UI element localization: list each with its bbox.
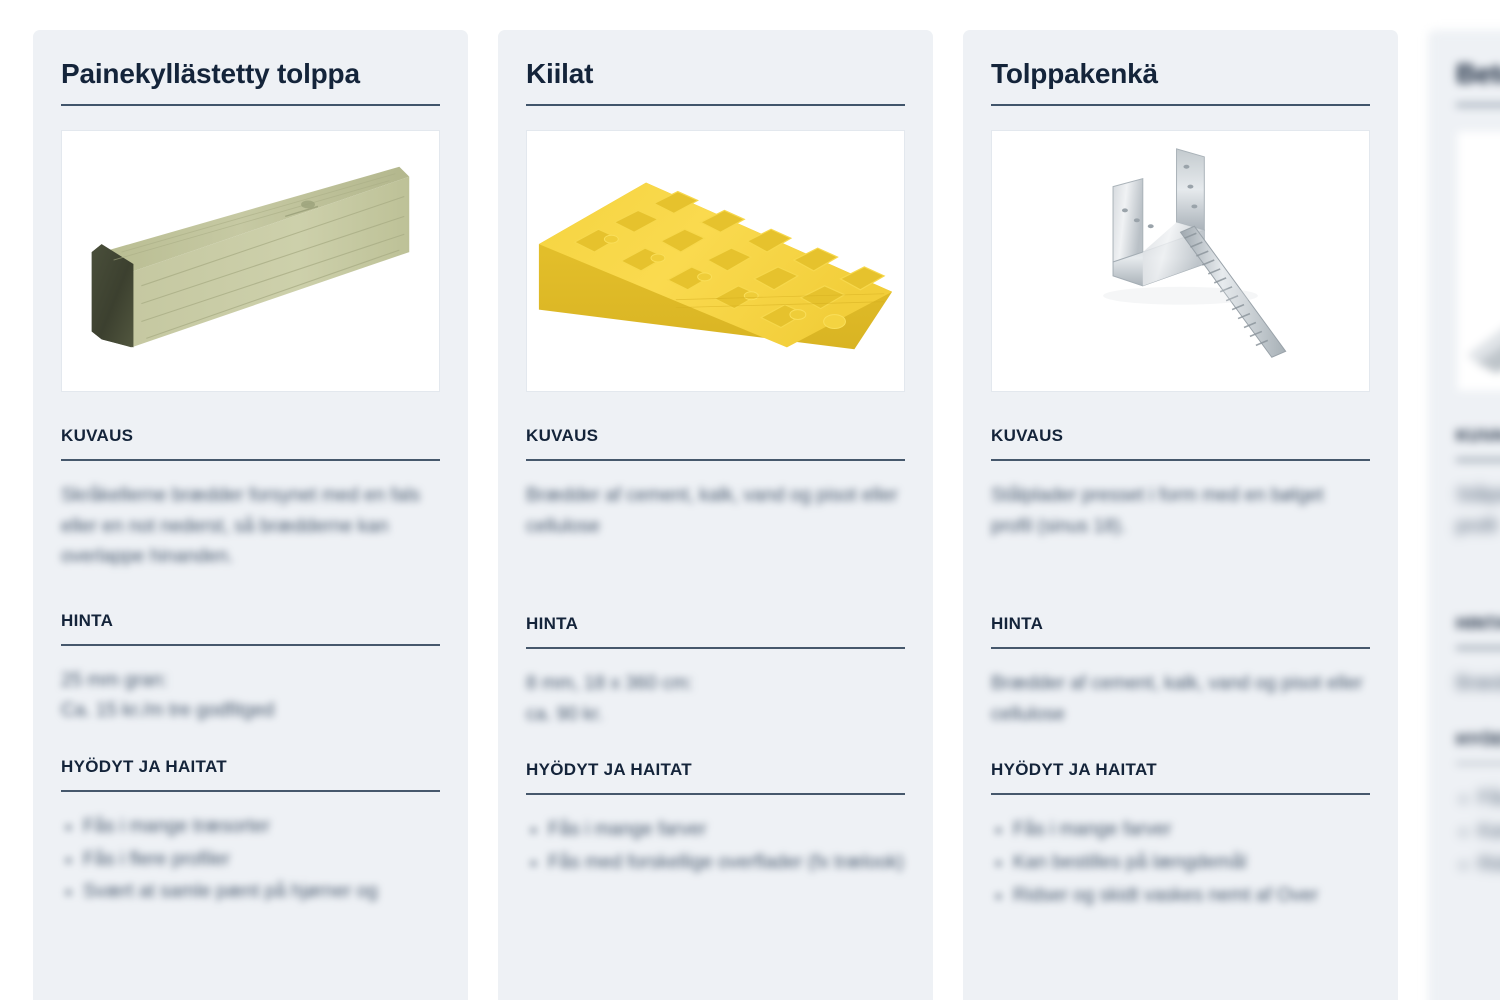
pros-cons-list-blurred: Fås i mange Kan bestilles Ridser og skid… (1456, 784, 1500, 880)
pros-cons-list: Fås i mange farver Fås med forskellige o… (526, 815, 905, 879)
description-text-blurred: Stålplader presset i form med en bølget … (991, 481, 1370, 543)
price-text: 8 mm, 18 x 360 cm: ca. 90 kr. (526, 669, 905, 731)
yellow-plastic-shim-wedge-photo (527, 134, 904, 389)
pros-cons-divider (1456, 763, 1500, 765)
description-text: Skråkellerne brædder forsynet med en fal… (61, 481, 440, 573)
section-label-pros-cons: HYÖDYT JA HAITAT (1456, 730, 1500, 750)
price-divider (991, 647, 1370, 649)
description-text-blurred: Brædder af cement, kalk, vand og pisot e… (526, 481, 905, 543)
pros-cons-list-blurred: Fås i mange farver Fås med forskellige o… (526, 815, 905, 879)
description-text-blurred: Skråkellerne brædder forsynet med en fal… (61, 481, 440, 573)
title-divider (1456, 104, 1500, 106)
description-text: Brædder af cement, kalk, vand og pisot e… (526, 481, 905, 543)
list-item: Kan bestilles på længdemål (1013, 848, 1370, 879)
price-text: Brædder af cement, kalk, vand og pisot (1456, 669, 1500, 700)
spacer (1456, 700, 1500, 730)
description-divider (1456, 459, 1500, 461)
section-label-description: KUVAUS (526, 426, 905, 446)
product-image-frame (991, 130, 1370, 392)
product-card-title: Betoni (1456, 58, 1500, 90)
price-divider (61, 644, 440, 646)
title-divider (61, 104, 440, 106)
price-divider (526, 647, 905, 649)
description-divider (526, 459, 905, 461)
pressure-treated-wooden-post-photo (62, 134, 439, 389)
price-text-blurred: Brædder af cement, kalk, vand og pisot e… (991, 669, 1370, 731)
section-label-description: KUVAUS (1456, 426, 1500, 446)
price-text: 25 mm gran: Ca. 15 kr./m tre godfitged (61, 666, 440, 728)
product-card-3[interactable]: Tolppakenkä (963, 30, 1398, 1000)
list-item: Fås i mange farver (1013, 815, 1370, 846)
product-image-frame (526, 130, 905, 392)
list-item: Fås i mange farver (548, 815, 905, 846)
product-card-1[interactable]: Painekyllästetty tolppa (33, 30, 468, 1000)
spacer (526, 730, 905, 760)
spacer (526, 542, 905, 614)
price-text-blurred: Brædder af cement, kalk, vand og pisot (1456, 669, 1500, 700)
price-text-blurred: 8 mm, 18 x 360 cm: ca. 90 kr. (526, 669, 905, 731)
title-divider (526, 104, 905, 106)
section-label-pros-cons: HYÖDYT JA HAITAT (61, 757, 440, 777)
metal-sheet-photo (1457, 134, 1500, 389)
list-item: Fås i mange (1478, 784, 1500, 815)
description-divider (61, 459, 440, 461)
list-item: Fås med forskellige overflader (fx trælo… (548, 848, 905, 879)
price-text-blurred: 25 mm gran: Ca. 15 kr./m tre godfitged (61, 666, 440, 728)
price-text: Brædder af cement, kalk, vand og pisot e… (991, 669, 1370, 731)
list-item: Kan bestilles (1478, 817, 1500, 848)
product-image-frame (61, 130, 440, 392)
pros-cons-list: Fås i mange træsorter Fås i flere profil… (61, 812, 440, 908)
section-label-description: KUVAUS (61, 426, 440, 446)
section-label-pros-cons: HYÖDYT JA HAITAT (526, 760, 905, 780)
section-label-price: HINTA (1456, 614, 1500, 634)
section-label-pros-cons: HYÖDYT JA HAITAT (991, 760, 1370, 780)
pros-cons-list: Fås i mange Kan bestilles Ridser og skid… (1456, 784, 1500, 880)
product-card-title: Tolppakenkä (991, 58, 1370, 90)
pros-cons-divider (526, 793, 905, 795)
title-divider (991, 104, 1370, 106)
section-label-price: HINTA (991, 614, 1370, 634)
pros-cons-list: Fås i mange farver Kan bestilles på læng… (991, 815, 1370, 911)
section-label-description: KUVAUS (991, 426, 1370, 446)
list-item: Ridser og skidt vaskes nemt af Over (1013, 881, 1370, 912)
description-text: Stålplader presset i form med en bølget … (991, 481, 1370, 543)
description-text-blurred: Stålplader presset i form med en bølget … (1456, 481, 1500, 543)
description-text: Stålplader presset i form med en bølget … (1456, 481, 1500, 543)
product-card-4[interactable]: Betoni KUVAUS Stålplader presset i form … (1428, 30, 1500, 1000)
list-item: Fås i flere profiler (83, 845, 440, 876)
pros-cons-divider (991, 793, 1370, 795)
product-card-2[interactable]: Kiilat (498, 30, 933, 1000)
galvanized-post-shoe-bracket-photo (992, 134, 1369, 389)
product-image-frame (1456, 130, 1500, 392)
product-card-title: Painekyllästetty tolppa (61, 58, 440, 90)
spacer (991, 730, 1370, 760)
description-divider (991, 459, 1370, 461)
pros-cons-divider (61, 790, 440, 792)
product-comparison-board: Painekyllästetty tolppa (0, 0, 1500, 1000)
pros-cons-list-blurred: Fås i mange farver Kan bestilles på læng… (991, 815, 1370, 911)
spacer (61, 573, 440, 611)
list-item: Fås i mange træsorter (83, 812, 440, 843)
spacer (1456, 542, 1500, 614)
spacer (61, 727, 440, 757)
pros-cons-list-blurred: Fås i mange træsorter Fås i flere profil… (61, 812, 440, 908)
list-item: Svært at samle pænt på hjørner og (83, 877, 440, 908)
price-divider (1456, 647, 1500, 649)
spacer (991, 542, 1370, 614)
section-label-price: HINTA (61, 611, 440, 631)
section-label-price: HINTA (526, 614, 905, 634)
list-item: Ridser og skidt vaskes (1478, 850, 1500, 881)
product-card-title: Kiilat (526, 58, 905, 90)
